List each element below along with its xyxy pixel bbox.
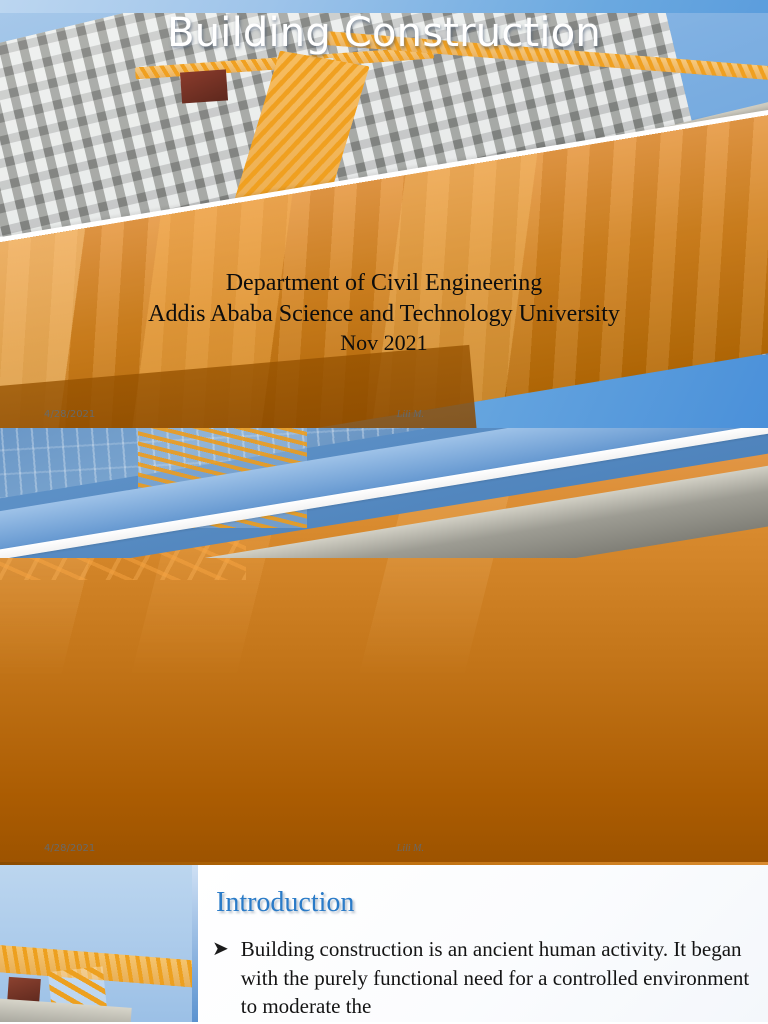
bullet-item: ➤ Building construction is an ancient hu…: [212, 935, 750, 1021]
title-subtitle-block: Department of Civil Engineering Addis Ab…: [0, 268, 768, 358]
footer-author: Lili M.: [397, 409, 424, 420]
page-title: Building Construction: [0, 10, 768, 56]
slide-introduction[interactable]: Introduction ➤ Building construction is …: [0, 862, 768, 1022]
footer-date: 4/28/2021: [44, 843, 95, 854]
crane-photo-panel: [0, 865, 198, 1022]
slide-body: Introduction ➤ Building construction is …: [198, 865, 768, 1022]
slide-title[interactable]: Building Construction Department of Civi…: [0, 0, 768, 428]
slide-chapter-one[interactable]: Chapter One Introduction Building Types/…: [0, 428, 768, 862]
department-line: Department of Civil Engineering: [0, 268, 768, 299]
bullet-text: Building construction is an ancient huma…: [241, 935, 750, 1021]
construction-site-photo: [0, 428, 768, 558]
section-heading: Introduction: [216, 887, 354, 919]
arrow-bullet-icon: ➤: [212, 935, 229, 1021]
footer-date: 4/28/2021: [44, 409, 95, 420]
slide-document: Building Construction Department of Civi…: [0, 0, 768, 1022]
slide-footer: 4/28/2021 Lili M.: [0, 409, 768, 420]
university-line: Addis Ababa Science and Technology Unive…: [0, 299, 768, 330]
crane-counterweight: [180, 69, 228, 103]
date-line: Nov 2021: [0, 329, 768, 358]
slide-footer: 4/28/2021 Lili M.: [0, 843, 768, 854]
footer-author: Lili M.: [397, 843, 424, 854]
